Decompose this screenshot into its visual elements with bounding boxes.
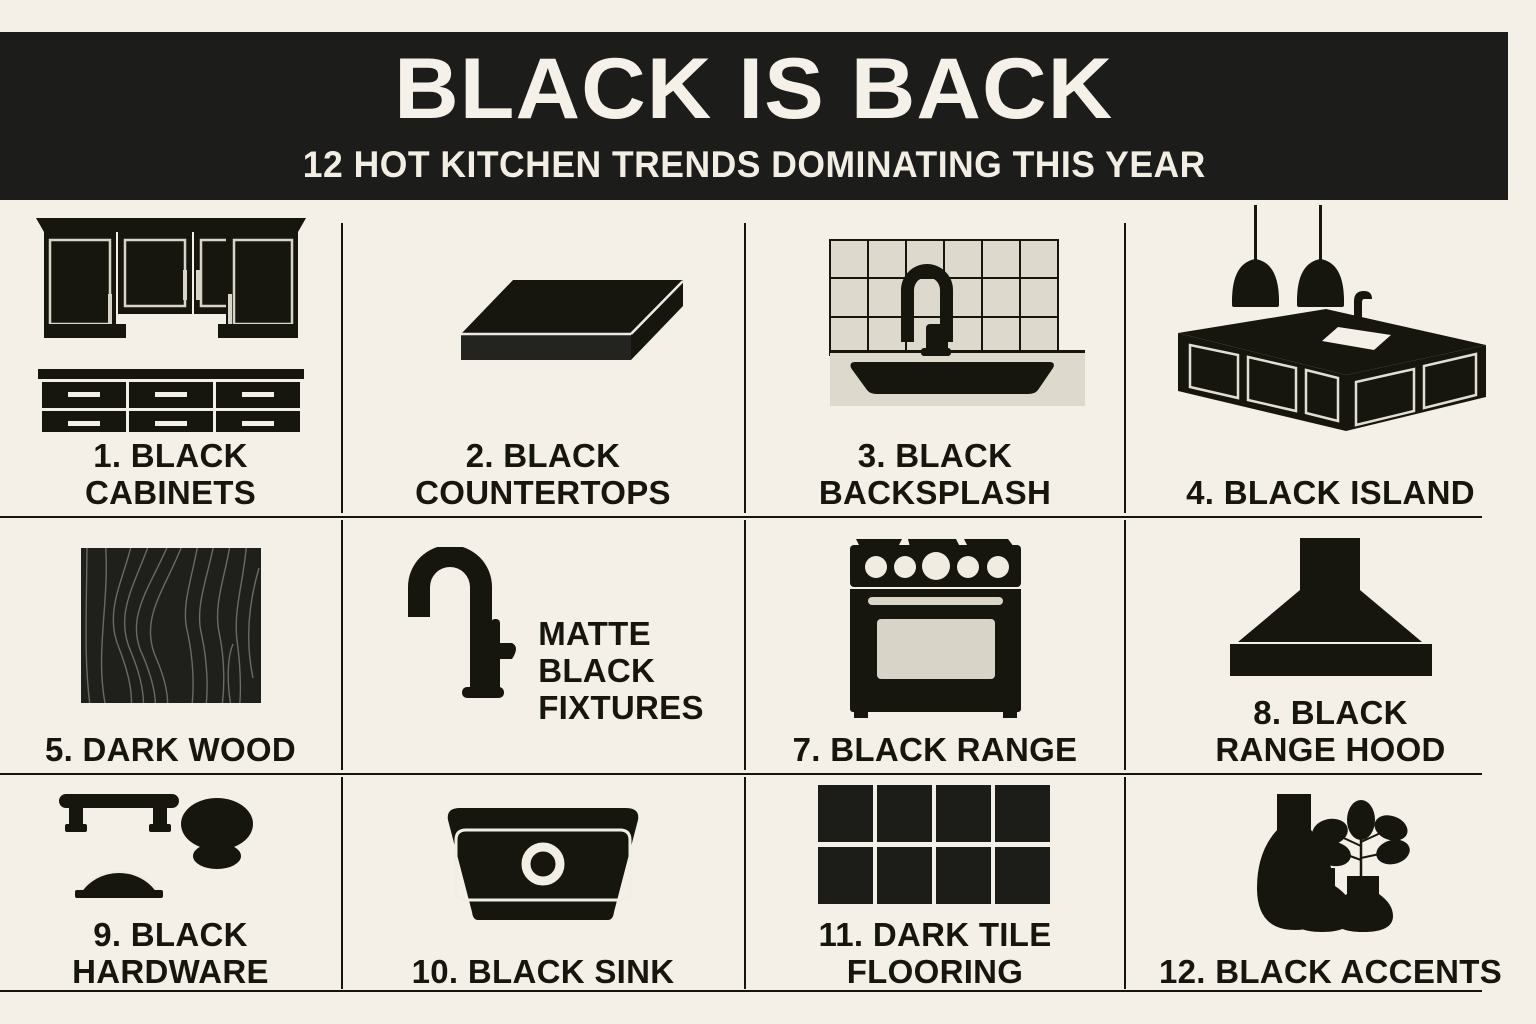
trend-label: 9. BLACK HARDWARE — [0, 917, 341, 993]
trend-cell-black-cabinets[interactable]: 1. BLACK CABINETS — [0, 205, 341, 518]
trend-label: 10. BLACK SINK — [408, 954, 679, 993]
trend-label: 4. BLACK ISLAND — [1182, 475, 1479, 514]
infographic-poster: BLACK IS BACK 12 HOT KITCHEN TRENDS DOMI… — [0, 0, 1536, 1024]
trend-cell-dark-wood[interactable]: 5. DARK WOOD — [0, 518, 341, 775]
trend-cell-black-range-hood[interactable]: 8. BLACK RANGE HOOD — [1125, 518, 1536, 775]
trend-cell-black-accents[interactable]: 12. BLACK ACCENTS — [1125, 775, 1536, 997]
trend-label: 7. BLACK RANGE — [789, 732, 1082, 771]
trend-cell-dark-tile-flooring[interactable]: 11. DARK TILE FLOORING — [745, 775, 1125, 997]
trend-label: 1. BLACK CABINETS — [0, 438, 341, 514]
trend-label: 5. DARK WOOD — [41, 732, 300, 771]
trend-cell-black-hardware[interactable]: 9. BLACK HARDWARE — [0, 775, 341, 997]
trend-label: 12. BLACK ACCENTS — [1155, 954, 1506, 993]
trend-label: MATTE BLACK FIXTURES — [528, 616, 708, 729]
page-subtitle: 12 HOT KITCHEN TRENDS DOMINATING THIS YE… — [303, 146, 1206, 183]
page-title: BLACK IS BACK — [394, 46, 1113, 132]
trend-cell-black-range[interactable]: 7. BLACK RANGE — [745, 518, 1125, 775]
sink-basin-icon — [341, 775, 745, 954]
trend-label: 8. BLACK RANGE HOOD — [1211, 695, 1449, 771]
range-hood-icon — [1125, 518, 1536, 695]
backsplash-sink-icon — [745, 205, 1125, 438]
trend-cell-black-island[interactable]: 4. BLACK ISLAND — [1125, 205, 1536, 518]
faucet-icon — [378, 547, 528, 747]
trend-cell-black-sink[interactable]: 10. BLACK SINK — [341, 775, 745, 997]
trend-label: 2. BLACK COUNTERTOPS — [411, 438, 675, 514]
trend-row: 5. DARK WOOD MATTE BLACK FIXT — [0, 518, 1536, 775]
kitchen-island-icon — [1125, 205, 1536, 475]
cabinets-icon — [0, 205, 341, 438]
trend-row: 1. BLACK CABINETS 2. BLACK CO — [0, 205, 1536, 518]
trend-cell-black-backsplash[interactable]: 3. BLACK BACKSPLASH — [745, 205, 1125, 518]
cabinet-hardware-icon — [0, 775, 341, 917]
trend-label: 11. DARK TILE FLOORING — [814, 917, 1055, 993]
range-stove-icon — [745, 518, 1125, 732]
trend-cell-matte-black-fixtures[interactable]: MATTE BLACK FIXTURES — [341, 518, 745, 775]
wood-grain-icon — [0, 518, 341, 732]
poster-header: BLACK IS BACK 12 HOT KITCHEN TRENDS DOMI… — [0, 32, 1508, 200]
vases-plant-icon — [1125, 775, 1536, 954]
countertop-slab-icon — [341, 205, 745, 438]
floor-tiles-icon — [745, 775, 1125, 917]
trends-grid: 1. BLACK CABINETS 2. BLACK CO — [0, 205, 1536, 995]
trend-cell-black-countertops[interactable]: 2. BLACK COUNTERTOPS — [341, 205, 745, 518]
trend-label: 3. BLACK BACKSPLASH — [815, 438, 1055, 514]
trend-row: 9. BLACK HARDWARE 10. BLACK SINK — [0, 775, 1536, 997]
